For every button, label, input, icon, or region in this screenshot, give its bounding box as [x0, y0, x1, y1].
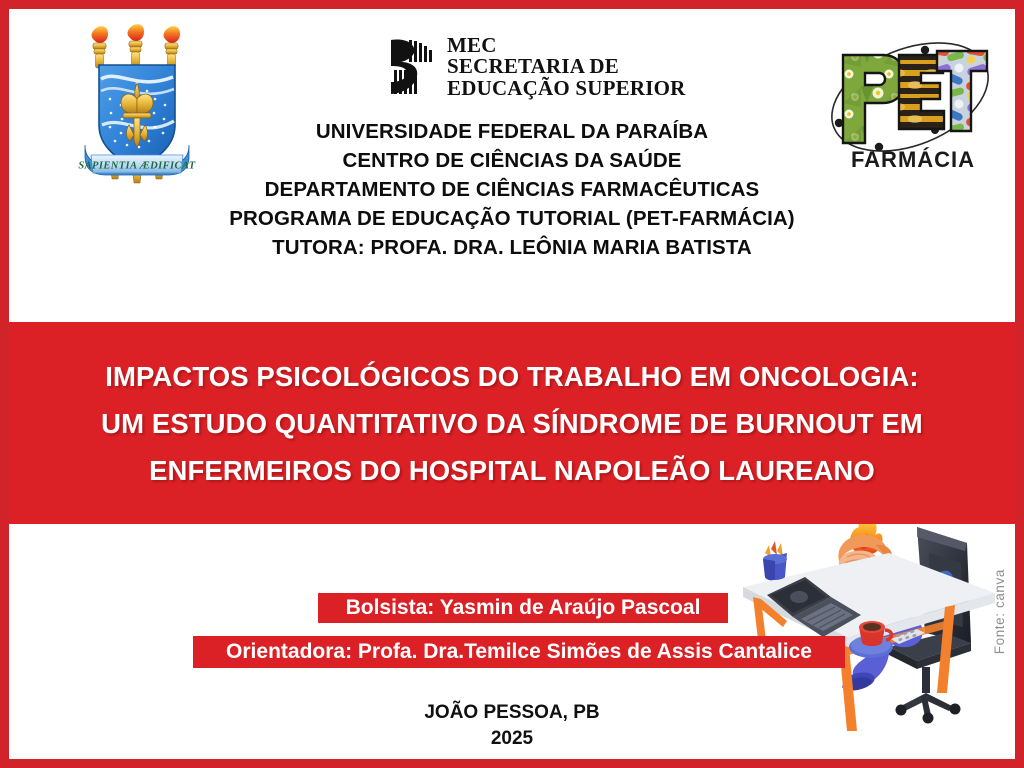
slide-header: SAPIENTIA ÆDIFICAT [9, 9, 1015, 322]
mec-line-3: EDUCAÇÃO SUPERIOR [447, 78, 686, 99]
title-line-3: ENFERMEIROS DO HOSPITAL NAPOLEÃO LAUREAN… [12, 447, 1012, 494]
mec-line-1: MEC [447, 35, 686, 56]
bolsista-banner: Bolsista: Yasmin de Araújo Pascoal [318, 593, 728, 623]
mec-logo-text: MEC SECRETARIA DE EDUCAÇÃO SUPERIOR [447, 35, 686, 99]
institution-line-4: PROGRAMA DE EDUCAÇÃO TUTORIAL (PET-FARMÁ… [9, 204, 1015, 233]
institution-line-2: CENTRO DE CIÊNCIAS DA SAÚDE [9, 146, 1015, 175]
page-title: IMPACTOS PSICOLÓGICOS DO TRABALHO EM ONC… [12, 353, 1012, 494]
institution-line-1: UNIVERSIDADE FEDERAL DA PARAÍBA [9, 117, 1015, 146]
footer-year: 2025 [9, 726, 1015, 752]
orientadora-banner: Orientadora: Profa. Dra.Temilce Simões d… [193, 636, 845, 668]
footer-city: JOÃO PESSOA, PB [9, 700, 1015, 726]
footer-block: JOÃO PESSOA, PB 2025 [9, 700, 1015, 752]
title-line-1: IMPACTOS PSICOLÓGICOS DO TRABALHO EM ONC… [12, 353, 1012, 400]
source-credit-label: Fonte: canva [992, 569, 1007, 654]
bolsista-label: Bolsista: Yasmin de Araújo Pascoal [346, 596, 701, 620]
institution-line-5: TUTORA: PROFA. DRA. LEÔNIA MARIA BATISTA [9, 233, 1015, 262]
mec-logo-mark-icon [387, 36, 439, 98]
title-line-2: UM ESTUDO QUANTITATIVO DA SÍNDROME DE BU… [12, 400, 1012, 447]
title-band: IMPACTOS PSICOLÓGICOS DO TRABALHO EM ONC… [0, 322, 1024, 524]
institution-line-3: DEPARTAMENTO DE CIÊNCIAS FARMACÊUTICAS [9, 175, 1015, 204]
presentation-slide: SAPIENTIA ÆDIFICAT [0, 0, 1024, 768]
orientadora-label: Orientadora: Profa. Dra.Temilce Simões d… [226, 640, 812, 664]
mec-line-2: SECRETARIA DE [447, 56, 686, 77]
slide-footer-section: Fonte: canva Bolsista: Yasmin de Araújo … [9, 515, 1015, 759]
mec-logo: MEC SECRETARIA DE EDUCAÇÃO SUPERIOR [387, 31, 697, 103]
institution-block: UNIVERSIDADE FEDERAL DA PARAÍBA CENTRO D… [9, 117, 1015, 262]
